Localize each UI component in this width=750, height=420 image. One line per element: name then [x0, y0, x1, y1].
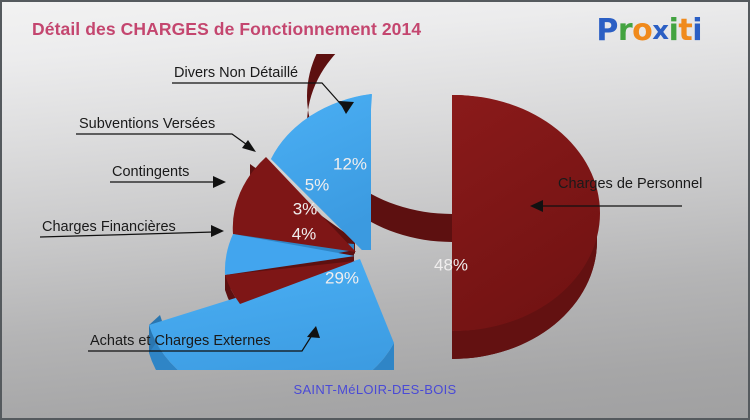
pct-financieres: 4% [292, 224, 317, 243]
logo-letter-t: t [678, 16, 692, 46]
callout-label-achats: Achats et Charges Externes [90, 333, 271, 349]
page-title: Détail des CHARGES de Fonctionnement 201… [32, 19, 421, 40]
logo-letter-i1: i [669, 16, 679, 46]
pct-divers: 12% [333, 154, 367, 173]
leader-divers [172, 83, 346, 110]
leader-subventions [76, 134, 250, 147]
callout-label-subventions: Subventions Versées [79, 116, 215, 132]
proxiti-logo[interactable]: Proxiti [596, 16, 702, 46]
commune-name: SAINT-MéLOIR-DES-BOIS [2, 382, 748, 397]
pct-contingents: 3% [293, 199, 318, 218]
pct-achats: 29% [325, 268, 359, 287]
logo-letter-o: o [632, 16, 652, 46]
logo-letter-x: x [652, 18, 668, 44]
logo-letter-r: r [618, 16, 632, 46]
logo-letter-i2: i [692, 16, 702, 46]
pct-personnel: 48% [434, 255, 468, 274]
callout-label-financieres: Charges Financières [42, 219, 176, 235]
arrowhead-financieres [211, 225, 224, 237]
callout-label-divers: Divers Non Détaillé [174, 65, 298, 81]
callout-label-personnel: Charges de Personnel [558, 176, 702, 192]
arrowhead-contingents [213, 176, 226, 188]
callout-label-contingents: Contingents [112, 164, 189, 180]
chart-page: Détail des CHARGES de Fonctionnement 201… [0, 0, 750, 420]
pie-chart: 48% 29% 12% 5% 3% 4% [2, 54, 748, 370]
logo-letter-p: P [596, 16, 618, 46]
pct-subventions: 5% [305, 175, 330, 194]
arrowhead-subventions [242, 140, 256, 152]
